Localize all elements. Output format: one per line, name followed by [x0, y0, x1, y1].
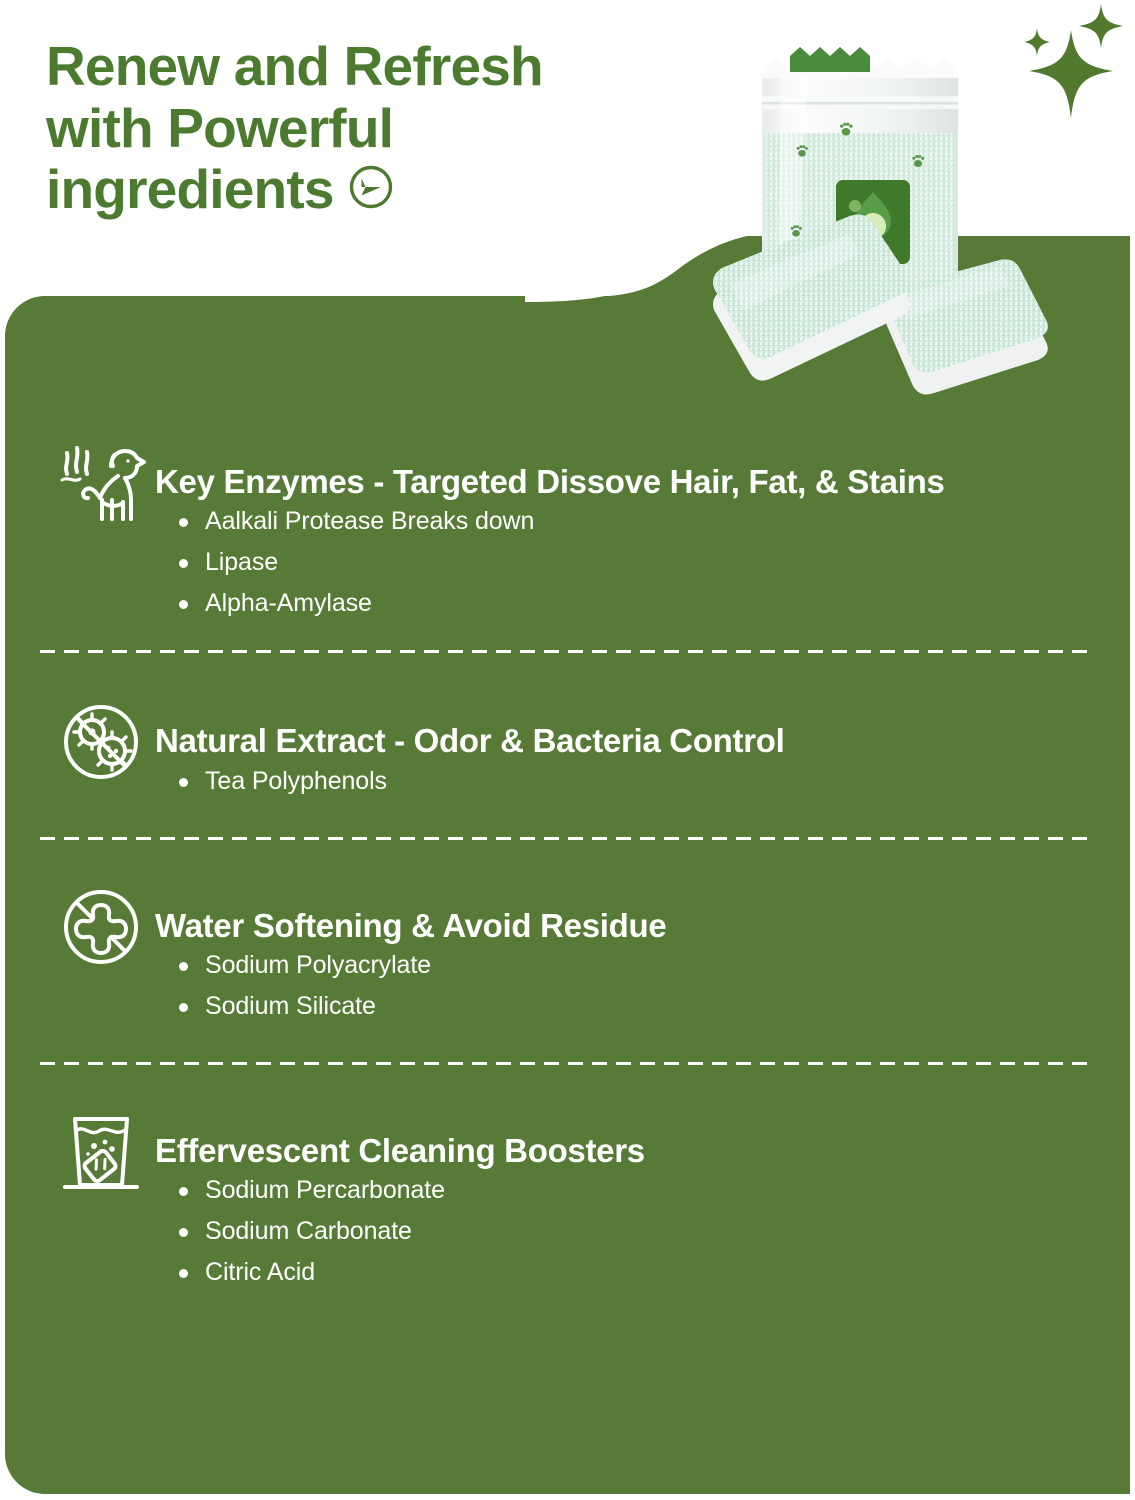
- list-item-label: Sodium Silicate: [205, 992, 376, 1020]
- headline-line-3: ingredients: [46, 158, 334, 220]
- list-item-label: Sodium Polyacrylate: [205, 951, 431, 979]
- section-natural-extract: Natural Extract - Odor & Bacteria Contro…: [0, 695, 1135, 793]
- dog-odor-icon: [55, 440, 147, 526]
- section-title: Key Enzymes - Targeted Dissove Hair, Fat…: [155, 464, 1135, 500]
- bullet-icon: [179, 1228, 188, 1237]
- list-item-label: Sodium Carbonate: [205, 1217, 412, 1245]
- section-list: Aalkali Protease Breaks down Lipase Alph…: [155, 509, 1135, 616]
- bullet-icon: [179, 778, 188, 787]
- bullet-icon: [179, 1003, 188, 1012]
- list-item: Sodium Percarbonate: [177, 1178, 1135, 1203]
- section-body: Effervescent Cleaning Boosters Sodium Pe…: [155, 1105, 1135, 1285]
- section-list: Tea Polyphenols: [155, 769, 1135, 794]
- section-body: Natural Extract - Odor & Bacteria Contro…: [155, 695, 1135, 793]
- section-key-enzymes: Key Enzymes - Targeted Dissove Hair, Fat…: [0, 436, 1135, 616]
- list-item-label: Lipase: [205, 548, 278, 576]
- list-item: Sodium Silicate: [177, 994, 1135, 1019]
- section-divider: [40, 1062, 1095, 1065]
- list-item: Sodium Carbonate: [177, 1219, 1135, 1244]
- list-item: Citric Acid: [177, 1260, 1135, 1285]
- no-bacteria-icon: [55, 699, 147, 785]
- bullet-icon: [179, 962, 188, 971]
- fizzing-glass-icon: [55, 1109, 147, 1195]
- list-item-label: Aalkali Protease Breaks down: [205, 507, 534, 535]
- section-title: Natural Extract - Odor & Bacteria Contro…: [155, 723, 1135, 759]
- headline-line-1: Renew and Refresh: [46, 36, 706, 98]
- section-divider: [40, 837, 1095, 840]
- infographic-page: Renew and Refresh with Powerful ingredie…: [0, 0, 1135, 1500]
- page-title: Renew and Refresh with Powerful ingredie…: [46, 36, 706, 221]
- list-item: Alpha-Amylase: [177, 591, 1135, 616]
- headline-line-2: with Powerful: [46, 98, 706, 160]
- headline-line-3-row: ingredients: [46, 159, 706, 221]
- list-item: Aalkali Protease Breaks down: [177, 509, 1135, 534]
- list-item-label: Sodium Percarbonate: [205, 1176, 445, 1204]
- list-item: Lipase: [177, 550, 1135, 575]
- bullet-icon: [179, 1187, 188, 1196]
- bullet-icon: [179, 518, 188, 527]
- section-list: Sodium Polyacrylate Sodium Silicate: [155, 953, 1135, 1019]
- arrow-circle-right-icon: [348, 161, 394, 207]
- section-effervescent-boosters: Effervescent Cleaning Boosters Sodium Pe…: [0, 1105, 1135, 1285]
- bullet-icon: [179, 1269, 188, 1278]
- section-title: Effervescent Cleaning Boosters: [155, 1133, 1135, 1169]
- section-title: Water Softening & Avoid Residue: [155, 908, 1135, 944]
- section-divider: [40, 650, 1095, 653]
- list-item-label: Tea Polyphenols: [205, 767, 387, 795]
- list-item: Sodium Polyacrylate: [177, 953, 1135, 978]
- bullet-icon: [179, 600, 188, 609]
- water-softening-molecule-icon: [55, 884, 147, 970]
- sparkle-icon: [1079, 4, 1123, 48]
- section-list: Sodium Percarbonate Sodium Carbonate Cit…: [155, 1178, 1135, 1285]
- list-item-label: Alpha-Amylase: [205, 589, 372, 617]
- list-item: Tea Polyphenols: [177, 769, 1135, 794]
- sparkle-icon: [1024, 28, 1050, 56]
- list-item-label: Citric Acid: [205, 1258, 315, 1286]
- bullet-icon: [179, 559, 188, 568]
- section-water-softening: Water Softening & Avoid Residue Sodium P…: [0, 880, 1135, 1019]
- section-body: Water Softening & Avoid Residue Sodium P…: [155, 880, 1135, 1019]
- section-body: Key Enzymes - Targeted Dissove Hair, Fat…: [155, 436, 1135, 616]
- sparkle-decoration-group: [1009, 0, 1129, 125]
